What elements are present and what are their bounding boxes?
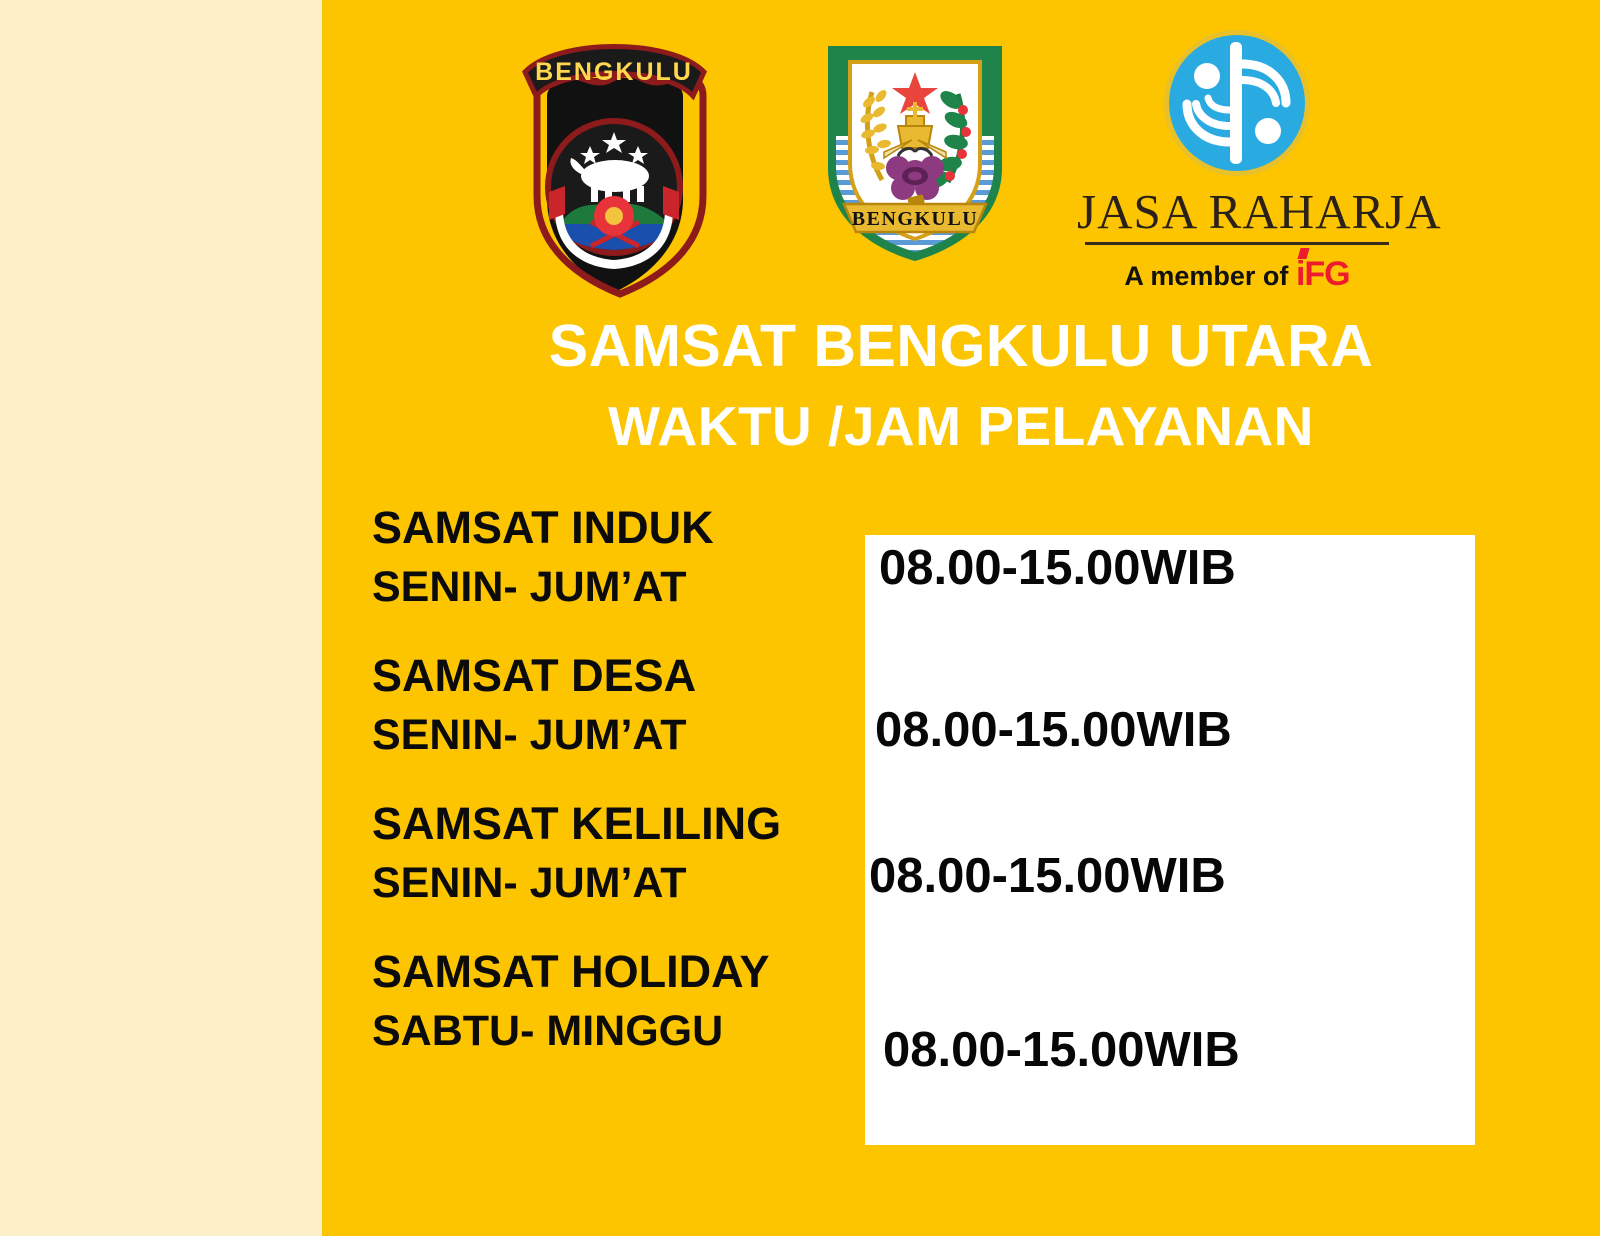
ifg-member-prefix: A member of	[1124, 261, 1288, 291]
jasa-raharja-emblem-icon	[1162, 28, 1312, 178]
schedule-row: SAMSAT HOLIDAY SABTU- MINGGU	[372, 949, 872, 1053]
service-name: SAMSAT HOLIDAY	[372, 949, 872, 994]
logo-row: BENGKULU	[322, 0, 1600, 310]
poster-canvas: BENGKULU	[0, 0, 1600, 1236]
ifg-brandmark: iFG	[1296, 255, 1350, 293]
ifg-member-line: A member of iFG	[1077, 255, 1397, 294]
service-name: SAMSAT INDUK	[372, 505, 872, 550]
service-days: SENIN- JUM’AT	[372, 714, 872, 757]
left-cream-strip	[0, 0, 322, 1236]
service-time: 08.00-15.00WIB	[879, 544, 1236, 593]
title-block: SAMSAT BENGKULU UTARA WAKTU /JAM PELAYAN…	[322, 315, 1600, 456]
bengkulu-province-emblem-icon: BENGKULU	[820, 40, 1010, 265]
page-subtitle: WAKTU /JAM PELAYANAN	[322, 396, 1600, 457]
jasa-raharja-wordmark: JASA RAHARJA	[1077, 183, 1397, 240]
page-title: SAMSAT BENGKULU UTARA	[322, 315, 1600, 378]
province-banner-text: BENGKULU	[852, 208, 978, 230]
police-badge-bengkulu-icon: BENGKULU	[507, 24, 722, 299]
service-time: 08.00-15.00WIB	[883, 1026, 1240, 1075]
police-banner-text: BENGKULU	[535, 58, 693, 86]
service-name: SAMSAT KELILING	[372, 801, 872, 846]
service-time: 08.00-15.00WIB	[869, 852, 1226, 901]
service-name: SAMSAT DESA	[372, 653, 872, 698]
service-days: SENIN- JUM’AT	[372, 566, 872, 609]
schedule-row: SAMSAT KELILING SENIN- JUM’AT	[372, 801, 872, 905]
service-days: SENIN- JUM’AT	[372, 862, 872, 905]
schedule-row: SAMSAT INDUK SENIN- JUM’AT	[372, 505, 872, 609]
jasa-raharja-logo: JASA RAHARJA A member of iFG	[1077, 28, 1397, 300]
service-labels-column: SAMSAT INDUK SENIN- JUM’AT SAMSAT DESA S…	[372, 505, 872, 1053]
main-yellow-panel: BENGKULU	[322, 0, 1600, 1236]
service-time: 08.00-15.00WIB	[875, 706, 1232, 755]
schedule-row: SAMSAT DESA SENIN- JUM’AT	[372, 653, 872, 757]
ifg-i-letter: i	[1296, 255, 1304, 293]
service-days: SABTU- MINGGU	[372, 1010, 872, 1053]
jasa-raharja-divider	[1085, 242, 1389, 245]
ifg-fg-letters: FG	[1304, 255, 1349, 293]
